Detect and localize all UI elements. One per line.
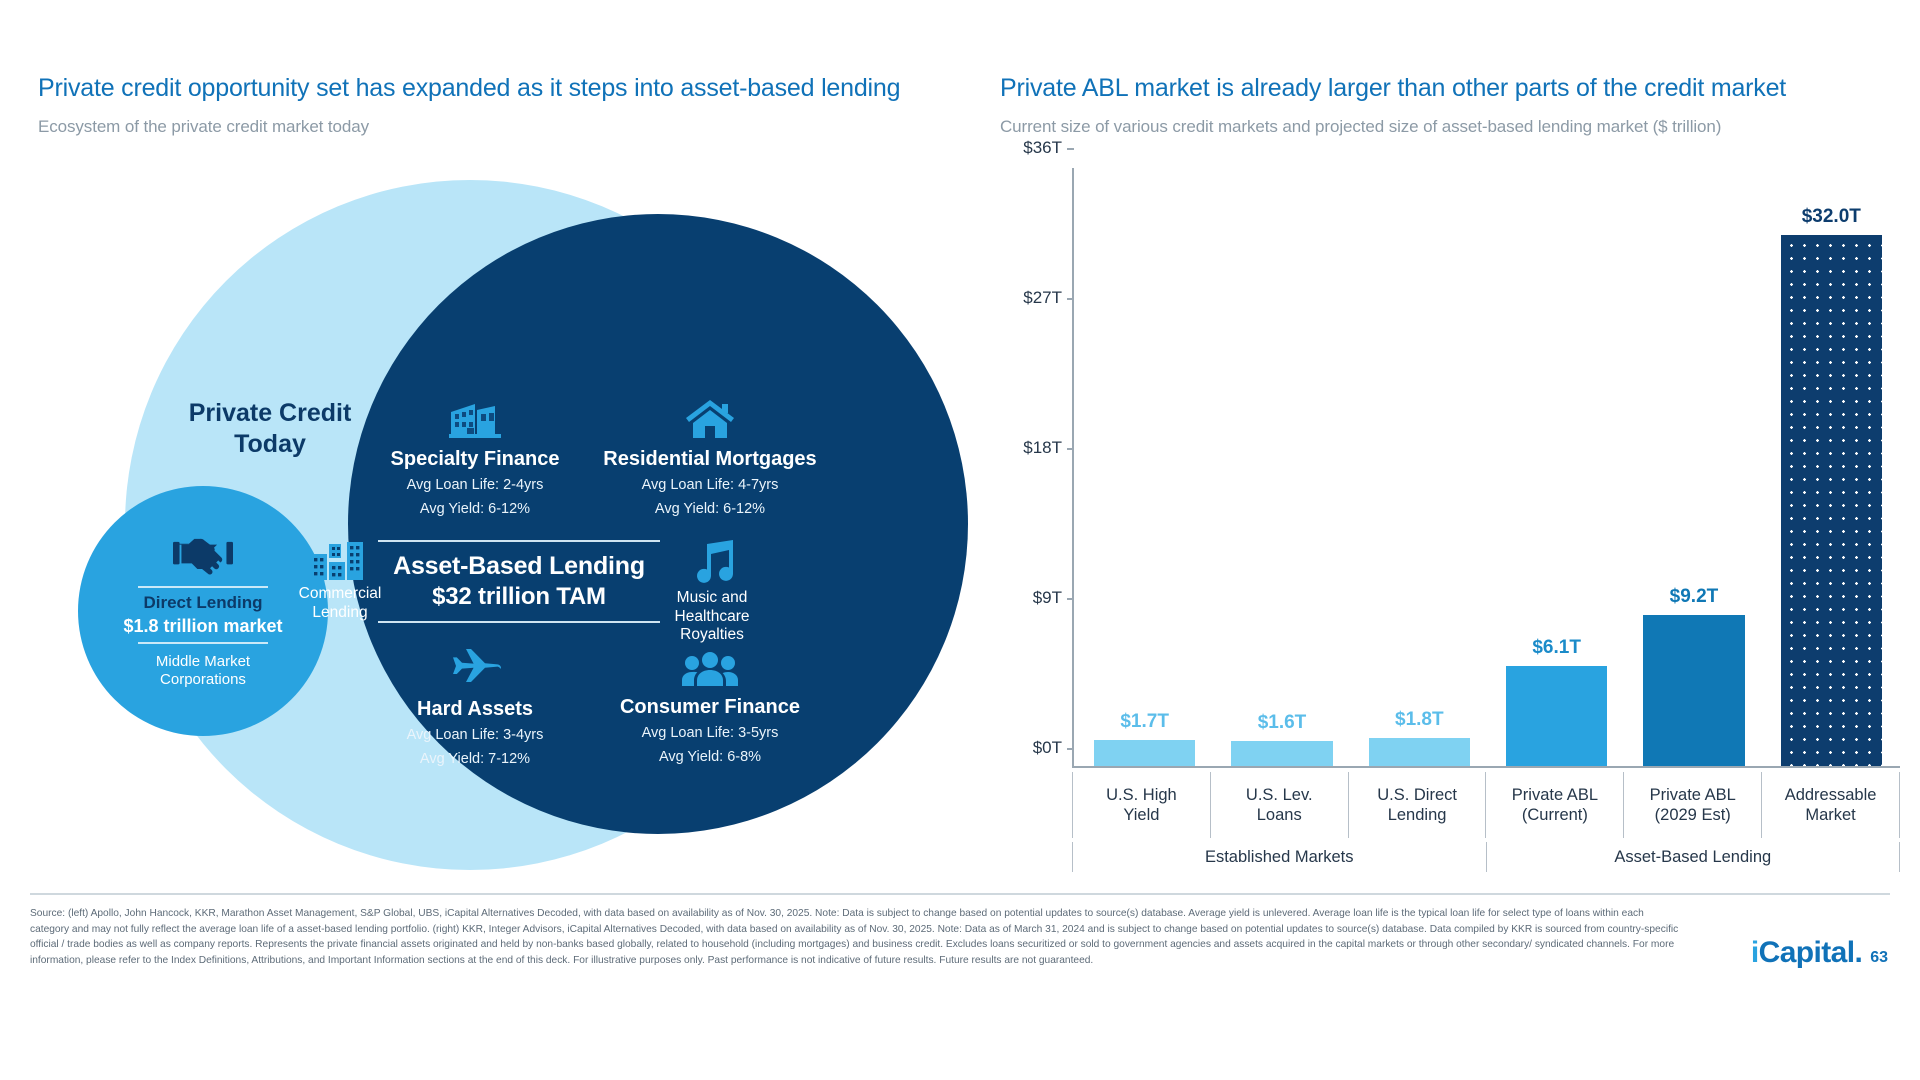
category-label: AddressableMarket: [1762, 772, 1900, 838]
private-credit-line2: Today: [150, 429, 390, 460]
segment-hard-assets-name: Hard Assets: [360, 698, 590, 721]
royalties-line2: Healthcare: [652, 608, 772, 627]
segment-residential-mortgages: Residential Mortgages Avg Loan Life: 4-7…: [590, 396, 830, 519]
segment-consumer-name: Consumer Finance: [590, 696, 830, 719]
bar-cell[interactable]: $6.1T: [1488, 168, 1625, 768]
airplane-icon: [360, 648, 590, 692]
x-axis-category-labels: U.S. HighYieldU.S. Lev.LoansU.S. DirectL…: [1072, 772, 1900, 838]
royalties-line3: Royalties: [652, 626, 772, 645]
direct-lending-name: Direct Lending: [143, 593, 262, 613]
private-credit-line1: Private Credit: [150, 398, 390, 429]
category-label: U.S. Lev.Loans: [1211, 772, 1349, 838]
bar[interactable]: [1094, 740, 1196, 768]
source-footnote: Source: (left) Apollo, John Hancock, KKR…: [30, 906, 1680, 968]
segment-consumer-finance: Consumer Finance Avg Loan Life: 3-5yrs A…: [590, 648, 830, 767]
bar-value-label: $6.1T: [1532, 637, 1581, 659]
bar[interactable]: [1781, 235, 1883, 768]
logo-i: i: [1751, 936, 1759, 969]
factory-icon: [360, 396, 590, 442]
bar-cell[interactable]: $9.2T: [1625, 168, 1762, 768]
slide: Private credit opportunity set has expan…: [0, 0, 1920, 1080]
left-panel-title: Private credit opportunity set has expan…: [38, 74, 968, 103]
brand-block: iCapital. 63: [1751, 936, 1888, 970]
y-tick-2: $18T: [1023, 438, 1074, 458]
bar-value-label: $1.8T: [1395, 709, 1444, 731]
segment-specialty-name: Specialty Finance: [360, 448, 590, 471]
segment-residential-yield: Avg Yield: 6-12%: [590, 499, 830, 519]
bar-value-label: $1.7T: [1120, 711, 1169, 733]
music-note-icon: [652, 540, 772, 589]
category-label: Private ABL(Current): [1486, 772, 1624, 838]
abl-value: $32 trillion TAM: [378, 583, 660, 621]
direct-lending-sub-line2: Corporations: [156, 671, 250, 689]
segment-hard-assets-loanlife: Avg Loan Life: 3-4yrs: [360, 725, 590, 745]
bar-value-label: $32.0T: [1802, 206, 1861, 228]
category-label: U.S. HighYield: [1072, 772, 1211, 838]
bar-cell[interactable]: $1.7T: [1076, 168, 1213, 768]
private-credit-today-label: Private Credit Today: [150, 398, 390, 459]
direct-lending-sub: Middle Market Corporations: [156, 653, 250, 689]
direct-lending-value: $1.8 trillion market: [123, 616, 282, 637]
royalties-line1: Music and: [652, 589, 772, 608]
direct-lending-sub-line1: Middle Market: [156, 653, 250, 671]
bar-cell[interactable]: $1.6T: [1213, 168, 1350, 768]
bar-value-label: $9.2T: [1670, 586, 1719, 608]
right-panel-subtitle: Current size of various credit markets a…: [1000, 117, 1890, 137]
segment-specialty-loanlife: Avg Loan Life: 2-4yrs: [360, 475, 590, 495]
icapital-logo: iCapital.: [1751, 936, 1862, 970]
x-axis-group-labels: Established MarketsAsset-Based Lending: [1072, 842, 1900, 872]
abl-market-bar-chart: $0T$9T$18T$27T$36T $1.7T$1.6T$1.8T$6.1T$…: [1000, 160, 1900, 880]
asset-based-lending-center-block: Asset-Based Lending $32 trillion TAM: [378, 540, 660, 623]
category-label: Private ABL(2029 Est): [1624, 772, 1762, 838]
segment-specialty-finance: Specialty Finance Avg Loan Life: 2-4yrs …: [360, 396, 590, 519]
handshake-icon: [173, 533, 233, 575]
group-label: Asset-Based Lending: [1487, 842, 1901, 872]
segment-music-healthcare-royalties: Music and Healthcare Royalties: [652, 540, 772, 645]
bar-series: $1.7T$1.6T$1.8T$6.1T$9.2T$32.0T: [1076, 168, 1900, 768]
direct-lending-rule-bottom: [138, 642, 268, 644]
y-tick-1: $9T: [1033, 588, 1074, 608]
people-icon: [590, 648, 830, 690]
private-credit-venn-diagram: Private Credit Today Direct Lending $1.8…: [30, 168, 970, 888]
bar-value-label: $1.6T: [1258, 712, 1307, 734]
bar-cell[interactable]: $1.8T: [1351, 168, 1488, 768]
right-panel-title: Private ABL market is already larger tha…: [1000, 74, 1890, 103]
segment-consumer-yield: Avg Yield: 6-8%: [590, 747, 830, 767]
right-panel: Private ABL market is already larger tha…: [1000, 74, 1890, 137]
bar[interactable]: [1643, 615, 1745, 768]
segment-hard-assets: Hard Assets Avg Loan Life: 3-4yrs Avg Yi…: [360, 648, 590, 769]
bar[interactable]: [1506, 666, 1608, 768]
group-label: Established Markets: [1072, 842, 1487, 872]
bar-cell[interactable]: $32.0T: [1763, 168, 1900, 768]
footer-divider: [30, 893, 1890, 895]
logo-rest: Capital.: [1759, 936, 1863, 969]
segment-specialty-yield: Avg Yield: 6-12%: [360, 499, 590, 519]
page-number: 63: [1870, 949, 1888, 967]
left-panel: Private credit opportunity set has expan…: [38, 74, 968, 137]
chart-plot-area: $0T$9T$18T$27T$36T $1.7T$1.6T$1.8T$6.1T$…: [1072, 168, 1900, 768]
direct-lending-rule-top: [138, 586, 268, 588]
left-panel-subtitle: Ecosystem of the private credit market t…: [38, 117, 968, 137]
house-icon: [590, 396, 830, 442]
segment-residential-loanlife: Avg Loan Life: 4-7yrs: [590, 475, 830, 495]
segment-consumer-loanlife: Avg Loan Life: 3-5yrs: [590, 723, 830, 743]
y-tick-3: $27T: [1023, 288, 1074, 308]
segment-residential-name: Residential Mortgages: [590, 448, 830, 471]
bar[interactable]: [1369, 738, 1471, 768]
abl-title: Asset-Based Lending: [378, 542, 660, 583]
y-tick-4: $36T: [1023, 138, 1074, 158]
bar[interactable]: [1231, 741, 1333, 768]
category-label: U.S. DirectLending: [1349, 772, 1487, 838]
abl-rule-bottom: [378, 621, 660, 623]
y-tick-0: $0T: [1033, 738, 1074, 758]
x-axis-line: [1072, 766, 1900, 768]
segment-hard-assets-yield: Avg Yield: 7-12%: [360, 749, 590, 769]
